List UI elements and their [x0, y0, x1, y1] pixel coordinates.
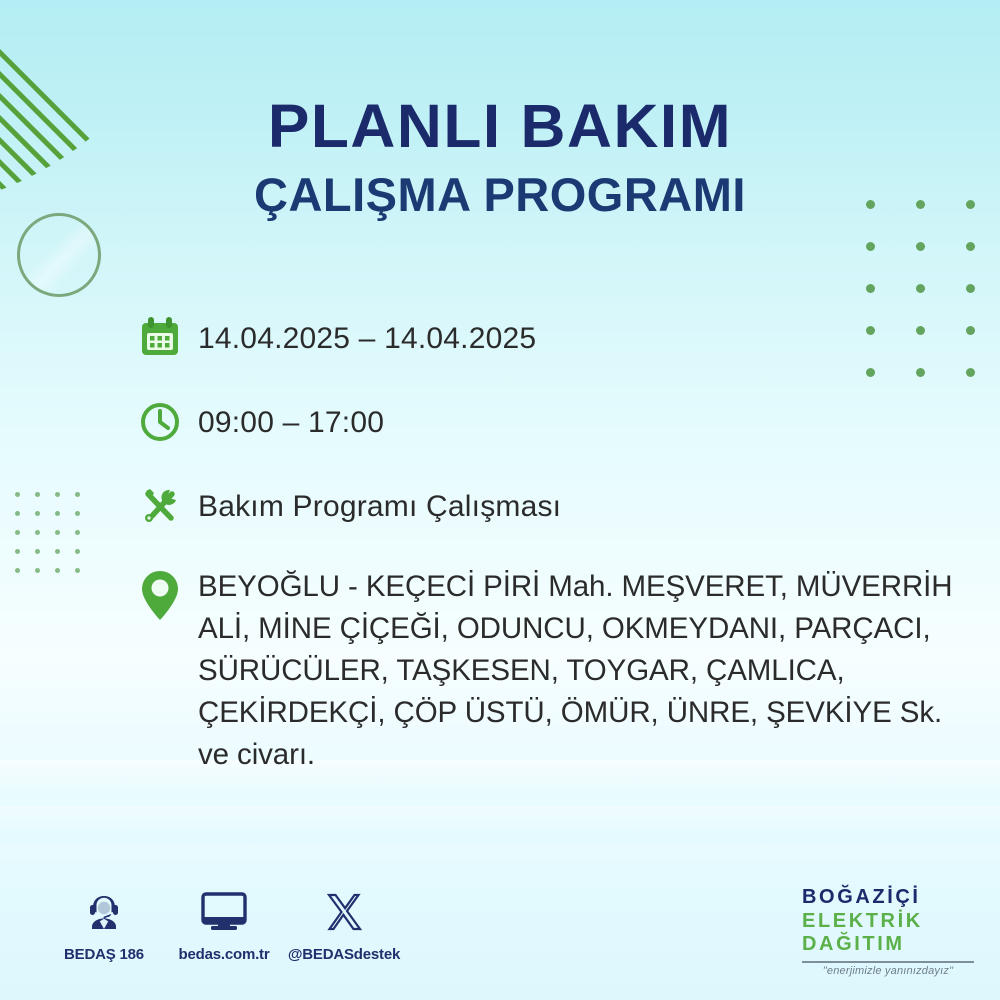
logo-tagline: "enerjimizle yanınızdayız": [802, 965, 974, 977]
page-title: PLANLI BAKIM ÇALIŞMA PROGRAMI: [0, 96, 1000, 218]
contact-website-label: bedas.com.tr: [164, 946, 284, 963]
x-twitter-icon: [284, 884, 404, 940]
info-row-date: 14.04.2025 – 14.04.2025: [136, 312, 976, 374]
dot: [35, 549, 40, 554]
info-rows: 14.04.2025 – 14.04.2025 09:00 – 17:00: [136, 312, 976, 775]
footer: BEDAŞ 186 bedas.com.tr: [0, 884, 1000, 1000]
background-band: [0, 806, 1000, 832]
dot: [15, 568, 20, 573]
dot: [35, 492, 40, 497]
date-range-text: 14.04.2025 – 14.04.2025: [198, 312, 536, 354]
contact-phone-label: BEDAŞ 186: [44, 946, 164, 963]
dot: [966, 242, 975, 251]
dot: [15, 492, 20, 497]
dot: [75, 568, 80, 573]
dot: [35, 568, 40, 573]
title-line-2: ÇALIŞMA PROGRAMI: [0, 171, 1000, 218]
dot: [966, 284, 975, 293]
time-range-text: 09:00 – 17:00: [198, 396, 384, 438]
title-line-1: PLANLI BAKIM: [0, 96, 1000, 157]
dot: [75, 549, 80, 554]
dot: [916, 242, 925, 251]
logo-line-bogazici: BOĞAZİÇİ: [802, 886, 982, 910]
footer-contacts: BEDAŞ 186 bedas.com.tr: [44, 884, 404, 963]
logo-divider: [802, 961, 974, 963]
monitor-icon: [164, 884, 284, 940]
dot: [866, 242, 875, 251]
info-row-time: 09:00 – 17:00: [136, 396, 976, 458]
calendar-icon: [136, 312, 198, 374]
dot: [55, 568, 60, 573]
dot: [15, 549, 20, 554]
logo-line-dagitim: DAĞITIM: [802, 933, 982, 957]
contact-website[interactable]: bedas.com.tr: [164, 884, 284, 963]
dot: [55, 530, 60, 535]
contact-x-twitter[interactable]: @BEDASdestek: [284, 884, 404, 963]
work-type-text: Bakım Programı Çalışması: [198, 480, 561, 522]
contact-phone[interactable]: BEDAŞ 186: [44, 884, 164, 963]
logo-line-elektrik: ELEKTRİK: [802, 910, 982, 934]
location-pin-icon: [136, 564, 198, 628]
clock-icon: [136, 396, 198, 458]
info-row-work-type: Bakım Programı Çalışması: [136, 480, 976, 542]
dot: [15, 530, 20, 535]
dot: [55, 492, 60, 497]
dot-grid-decoration-left: [15, 492, 95, 587]
dot: [55, 511, 60, 516]
dot: [75, 511, 80, 516]
contact-x-label: @BEDASdestek: [284, 946, 404, 963]
dot: [35, 530, 40, 535]
dot: [866, 284, 875, 293]
bedas-logo: BOĞAZİÇİ ELEKTRİK DAĞITIM "enerjimizle y…: [802, 886, 982, 977]
dot: [75, 492, 80, 497]
dot: [55, 549, 60, 554]
poster-canvas: PLANLI BAKIM ÇALIŞMA PROGRAMI: [0, 0, 1000, 1000]
info-row-location: BEYOĞLU - KEÇECİ PİRİ Mah. MEŞVERET, MÜV…: [136, 564, 976, 775]
circle-outline-decoration: [17, 213, 101, 297]
dot: [35, 511, 40, 516]
tools-icon: [136, 480, 198, 542]
background-band: [0, 845, 1000, 875]
call-center-agent-icon: [44, 884, 164, 940]
dot: [15, 511, 20, 516]
dot: [916, 284, 925, 293]
dot: [75, 530, 80, 535]
location-text: BEYOĞLU - KEÇECİ PİRİ Mah. MEŞVERET, MÜV…: [198, 564, 976, 775]
